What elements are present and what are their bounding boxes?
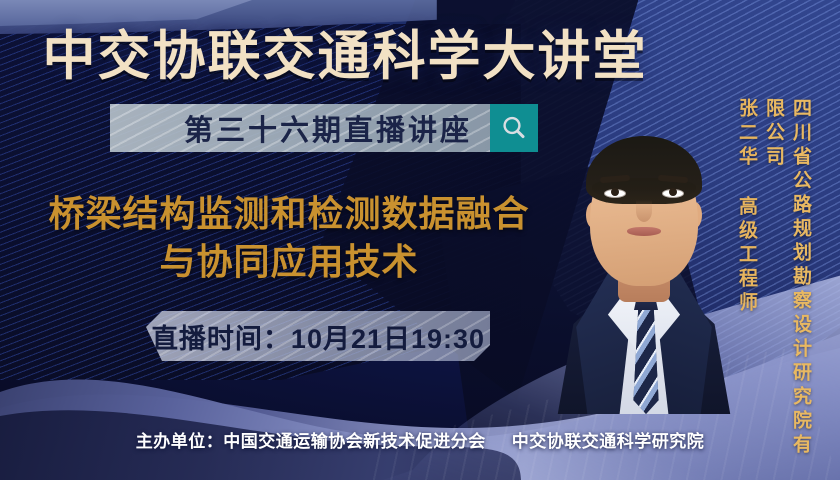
footer-org-2: 中交协联交通科学研究院	[512, 432, 705, 451]
broadcast-time-pill: 直播时间：10月21日19:30	[146, 311, 490, 361]
search-icon	[499, 113, 529, 143]
session-label-bar: 第三十六期直播讲座	[110, 104, 490, 152]
portrait-pupil-left	[611, 188, 619, 196]
footer-org-1: 中国交通运输协会新技术促进分会	[223, 432, 486, 451]
broadcast-time-text: 直播时间：10月21日19:30	[151, 317, 485, 356]
lecture-title-line-2: 与协同应用技术	[34, 238, 544, 286]
poster-canvas: 中交协联交通科学大讲堂 第三十六期直播讲座 桥梁结构监测和检测数据融合 与协同应…	[0, 0, 840, 480]
session-label-text: 第三十六期直播讲座	[184, 107, 472, 149]
footer-prefix: 主办单位：	[136, 432, 224, 451]
portrait-pupil-right	[669, 188, 677, 196]
lecture-title-line-1: 桥梁结构监测和检测数据融合	[34, 190, 544, 238]
speaker-name-vertical: 张二华 高级工程师	[733, 98, 760, 428]
speaker-portrait	[546, 66, 742, 414]
poster-headline: 中交协联交通科学大讲堂	[0, 14, 840, 90]
lecture-title: 桥梁结构监测和检测数据融合 与协同应用技术	[34, 190, 544, 285]
footer-organizers: 主办单位：中国交通运输协会新技术促进分会中交协联交通科学研究院	[0, 427, 840, 452]
portrait-nose	[636, 200, 652, 222]
portrait-mouth	[627, 227, 661, 236]
speaker-organization-vertical: 四川省公路规划勘察设计研究院有限公司	[760, 98, 814, 458]
search-icon-box[interactable]	[490, 104, 538, 152]
